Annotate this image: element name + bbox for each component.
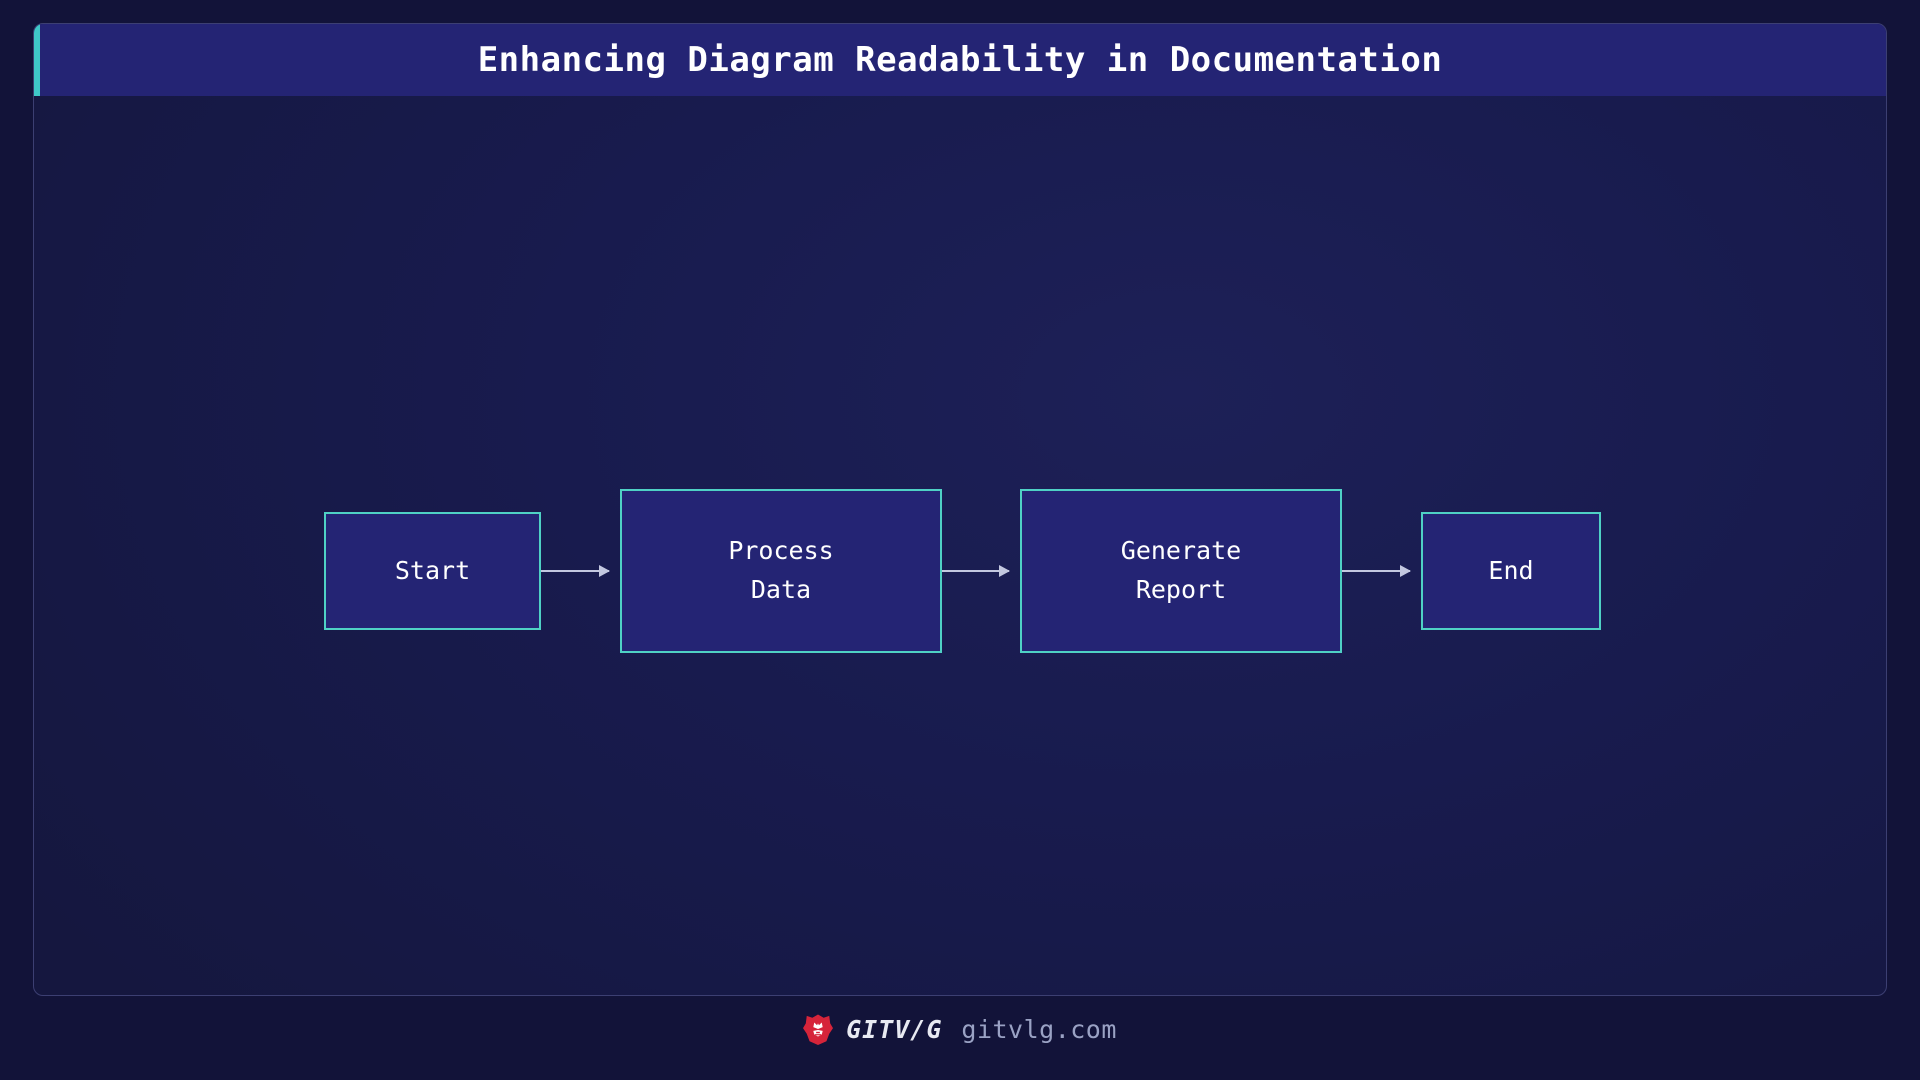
- diagram-canvas: Start Process Data Generate Report End: [34, 96, 1886, 996]
- diagram-node-start[interactable]: Start: [324, 512, 541, 630]
- node-label: End: [1488, 552, 1533, 591]
- brand-name: GITV/G: [846, 1015, 942, 1044]
- diagram-node-process-data[interactable]: Process Data: [620, 489, 942, 653]
- node-label: Process Data: [728, 532, 833, 610]
- diagram-node-generate-report[interactable]: Generate Report: [1020, 489, 1342, 653]
- footer-branding: GITV/G gitvlg.com: [0, 1005, 1920, 1053]
- diagram-edge-generate-to-end: [1342, 570, 1410, 572]
- diagram-edge-start-to-process: [541, 570, 609, 572]
- slide-header: Enhancing Diagram Readability in Documen…: [34, 24, 1886, 96]
- node-label: Start: [395, 552, 470, 591]
- page-title: Enhancing Diagram Readability in Documen…: [478, 40, 1443, 80]
- header-accent-bar: [34, 24, 40, 96]
- diagram-node-end[interactable]: End: [1421, 512, 1601, 630]
- content-panel: Enhancing Diagram Readability in Documen…: [33, 23, 1887, 996]
- diagram-edge-process-to-generate: [942, 570, 1009, 572]
- node-label: Generate Report: [1121, 532, 1241, 610]
- brand-url: gitvlg.com: [961, 1015, 1117, 1044]
- slide-root: Enhancing Diagram Readability in Documen…: [0, 0, 1920, 1080]
- lion-head-logo-icon: [803, 1013, 833, 1045]
